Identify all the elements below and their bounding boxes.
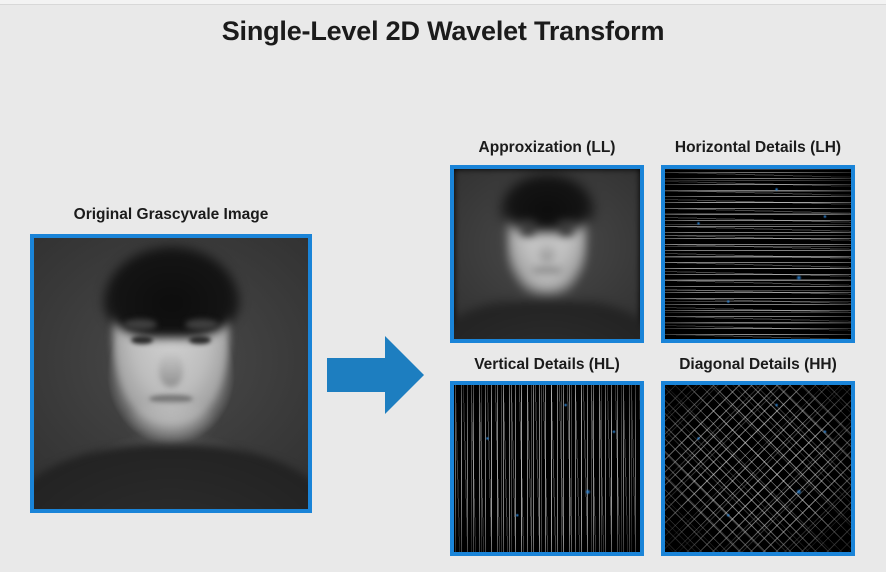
portrait-eye-right — [189, 336, 211, 345]
portrait-eye-right — [559, 230, 574, 235]
portrait-brow-right — [556, 220, 578, 227]
slide-canvas: Single-Level 2D Wavelet Transform Origin… — [0, 0, 886, 572]
portrait-brow-right — [185, 319, 218, 330]
original-image-panel[interactable] — [30, 234, 312, 513]
vertical-detail-image — [454, 385, 640, 552]
subband-canvas-hh — [665, 385, 851, 552]
subband-label-ll: Approxization (LL) — [450, 139, 644, 157]
horizontal-detail-image — [665, 169, 851, 339]
portrait-shoulders — [454, 298, 640, 339]
page-title: Single-Level 2D Wavelet Transform — [0, 16, 886, 47]
subband-canvas-hl — [454, 385, 640, 552]
top-edge-strip — [0, 0, 886, 5]
subband-panel-hh[interactable] — [661, 381, 855, 556]
portrait-brow-left — [515, 220, 537, 227]
original-image-canvas — [34, 238, 308, 509]
subband-canvas-lh — [665, 169, 851, 339]
portrait-photo — [34, 238, 308, 509]
portrait-chin — [127, 401, 215, 444]
original-image-label: Original Grascyvale Image — [30, 206, 312, 224]
subband-panel-lh[interactable] — [661, 165, 855, 343]
subband-panel-ll[interactable] — [450, 165, 644, 343]
subband-label-hl: Vertical Details (HL) — [450, 356, 644, 374]
approximation-image — [454, 169, 640, 339]
blue-speck-overlay — [665, 169, 851, 339]
subband-canvas-ll — [454, 169, 640, 339]
subband-label-hh: Diagonal Details (HH) — [661, 356, 855, 374]
subband-panel-hl[interactable] — [450, 381, 644, 556]
subband-label-lh: Horizontal Details (LH) — [661, 139, 855, 157]
arrow-right-icon — [327, 336, 424, 414]
portrait-nose — [159, 352, 184, 387]
blue-speck-overlay — [665, 385, 851, 552]
diagonal-detail-image — [665, 385, 851, 552]
portrait-chin — [517, 271, 577, 298]
portrait-eye-left — [520, 230, 535, 235]
portrait-hair — [103, 246, 240, 338]
portrait-shoulders — [34, 444, 308, 509]
blue-speck-overlay — [454, 385, 640, 552]
